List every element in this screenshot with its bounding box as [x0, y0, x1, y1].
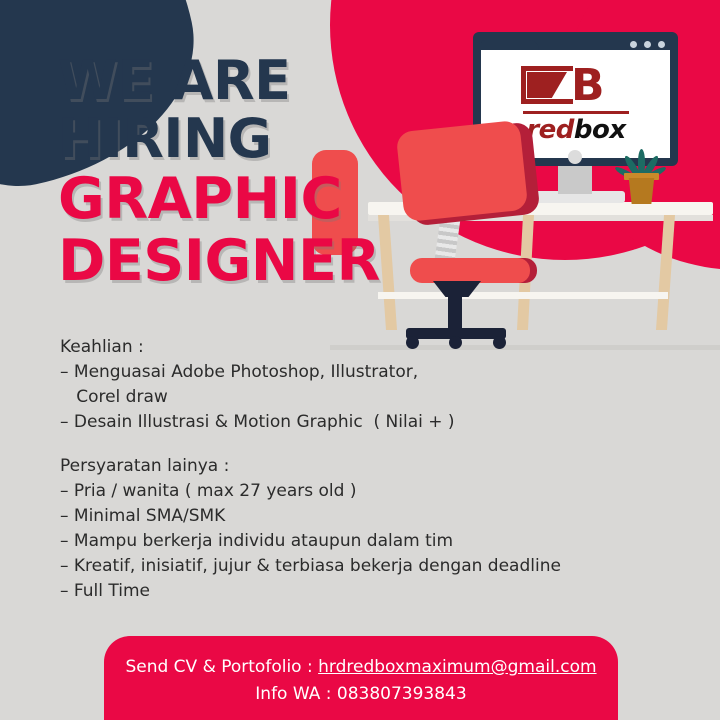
contact-email-line: Send CV & Portofolio : hrdredboxmaximum@… — [104, 654, 618, 681]
logo-divider — [523, 111, 629, 114]
section-spacer — [60, 435, 660, 453]
requirements-heading: Persyaratan lainya : — [60, 453, 660, 479]
requirements-item: – Minimal SMA/SMK — [60, 504, 660, 529]
logo-word-box: box — [574, 115, 626, 145]
skills-item: – Menguasai Adobe Photoshop, Illustrator… — [60, 360, 660, 385]
desk-leg — [656, 215, 675, 330]
skills-heading: Keahlian : — [60, 334, 660, 360]
chair-seat — [410, 258, 530, 283]
requirements-item: – Kreatif, inisiatif, jujur & terbiasa b… — [60, 554, 660, 579]
desk-brace — [378, 292, 668, 299]
job-poster: B redbox WE ARE HIRING GRAPHIC — [0, 0, 720, 720]
requirements-item: – Mampu berkerja individu ataupun dalam … — [60, 529, 660, 554]
monitor-neck — [558, 166, 592, 194]
chair-post — [448, 294, 462, 332]
contact-email-label: Send CV & Portofolio : — [125, 657, 318, 677]
logo-word-red: red — [526, 115, 574, 145]
logo-monogram-letter: B — [571, 64, 617, 108]
headline-line-hiring: HIRING — [58, 110, 380, 168]
plant-pot-icon — [627, 178, 656, 204]
requirements-item: – Pria / wanita ( max 27 years old ) — [60, 479, 660, 504]
contact-whatsapp-line[interactable]: Info WA : 083807393843 — [104, 681, 618, 708]
skills-item: – Desain Illustrasi & Motion Graphic ( N… — [60, 410, 660, 435]
contact-email-address[interactable]: hrdredboxmaximum@gmail.com — [318, 657, 596, 677]
desk-leg — [378, 215, 397, 330]
redbox-monogram-icon: B — [521, 62, 631, 110]
details-block: Keahlian : – Menguasai Adobe Photoshop, … — [60, 334, 660, 604]
headline-block: WE ARE HIRING GRAPHIC DESIGNER — [58, 52, 380, 292]
headline-line-graphic: GRAPHIC — [58, 168, 380, 230]
monitor-power-button-icon — [568, 150, 582, 164]
requirements-item: – Full Time — [60, 579, 660, 604]
chair-backrest — [396, 120, 529, 222]
headline-line-designer: DESIGNER — [58, 230, 380, 292]
window-dots-icon — [630, 41, 665, 48]
workspace-illustration: B redbox — [330, 0, 720, 350]
contact-banner: Send CV & Portofolio : hrdredboxmaximum@… — [104, 636, 618, 720]
skills-item: Corel draw — [60, 385, 660, 410]
headline-line-we-are: WE ARE — [58, 52, 380, 110]
